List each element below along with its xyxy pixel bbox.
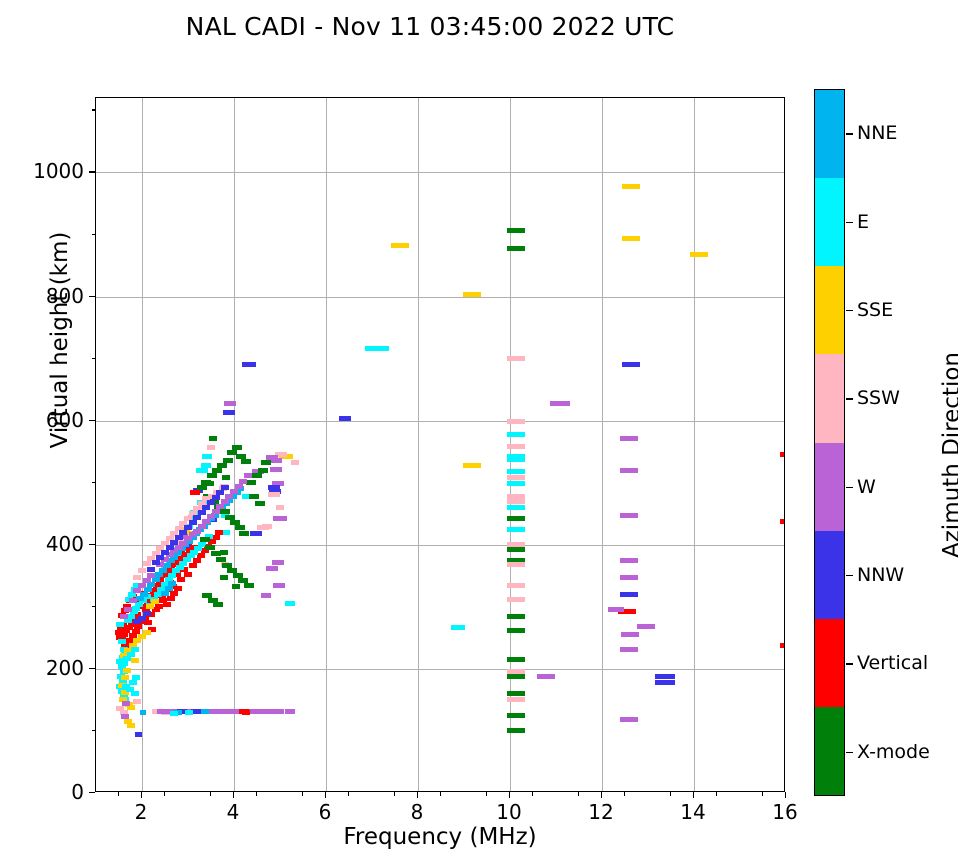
data-point [213,602,223,607]
x-tick-mark [141,792,142,798]
x-tick-label: 2 [135,800,148,824]
colorbar-tick [846,133,853,134]
data-point [168,581,176,586]
x-tick-label: 8 [411,800,424,824]
data-point [146,604,154,609]
x-minor-tick [348,792,349,796]
data-point [190,490,200,495]
gridline-horizontal [96,669,784,670]
data-point [780,519,785,524]
data-point [608,607,624,612]
gridline-horizontal [96,297,784,298]
data-point [507,246,525,251]
data-point [123,668,131,673]
data-point [507,475,525,480]
data-point [373,346,389,351]
x-minor-tick [210,792,211,796]
data-point [134,624,142,629]
x-minor-tick [486,792,487,796]
data-point [133,588,141,593]
data-point [255,501,265,506]
data-point [507,597,525,602]
figure-root: NAL CADI - Nov 11 03:45:00 2022 UTC 2468… [0,0,958,857]
data-point [620,436,638,441]
x-minor-tick [256,792,257,796]
data-point [620,468,638,473]
data-point [220,575,228,580]
x-minor-tick [118,792,119,796]
data-point [507,713,525,718]
data-point [175,535,183,540]
x-minor-tick [394,792,395,796]
x-tick-label: 14 [680,800,705,824]
data-point [463,463,473,468]
y-tick-label: 0 [71,780,84,804]
data-point [244,473,252,478]
data-point [120,661,128,666]
data-point [193,515,201,520]
colorbar-label-nne: NNE [857,122,897,144]
x-axis-label: Frequency (MHz) [95,824,785,850]
data-point [620,513,638,518]
data-point [270,458,282,463]
data-point [189,563,197,568]
data-point [202,519,210,524]
data-point [144,620,152,625]
data-point [620,717,638,722]
data-point [179,530,187,535]
data-point [170,591,178,596]
data-point [133,699,141,704]
data-point [131,658,139,663]
data-point [272,560,284,565]
data-point [285,709,295,714]
data-point [127,652,135,657]
gridline-vertical [142,98,143,791]
colorbar-label-nnw: NNW [857,564,904,586]
data-point [185,710,193,715]
colorbar-segment-vertical[interactable] [815,619,844,707]
data-point [463,292,481,297]
data-point [224,401,236,406]
data-point [507,674,525,679]
data-point [138,568,146,573]
data-point [220,509,230,514]
data-point [391,243,409,248]
data-point [235,525,245,530]
x-tick-mark [785,792,786,798]
data-point [270,709,284,714]
data-point [170,540,178,545]
x-minor-tick [532,792,533,796]
x-minor-tick [164,792,165,796]
x-tick-label: 10 [496,800,521,824]
data-point [126,687,134,692]
data-point [133,619,141,624]
data-point [273,583,285,588]
data-point [258,468,268,473]
data-point [132,675,140,680]
data-point [250,531,262,536]
data-point [216,490,224,495]
data-point [507,228,525,233]
data-point [507,457,525,462]
data-point [147,567,155,572]
data-point [131,647,139,652]
data-point [184,572,192,577]
data-point [222,475,230,480]
colorbar-segment-w[interactable] [815,443,844,531]
data-point [207,500,215,505]
data-point [223,410,235,415]
data-point [220,550,228,555]
x-tick-label: 16 [772,800,797,824]
data-point [211,551,221,556]
data-point [239,531,249,536]
data-point [655,680,675,685]
data-point [261,460,271,465]
data-point [163,602,171,607]
data-point [129,680,137,685]
colorbar-label-sse: SSE [857,299,893,321]
data-point [621,632,639,637]
data-point [242,362,256,367]
data-point [215,530,223,535]
data-point [507,547,525,552]
x-minor-tick [578,792,579,796]
data-point [189,520,197,525]
data-point [179,541,187,546]
data-point [184,525,192,530]
colorbar-segment-x-mode[interactable] [815,707,844,795]
gridline-vertical [326,98,327,791]
data-point [140,710,146,715]
data-point [165,586,173,591]
x-tick-mark [601,792,602,798]
data-point [212,509,220,514]
data-point [232,584,240,589]
colorbar[interactable] [814,89,845,796]
data-point [212,495,220,500]
x-minor-tick [302,792,303,796]
colorbar-label-w: W [857,476,876,498]
colorbar-tick [846,398,853,399]
data-point [167,596,175,601]
data-point [200,537,210,542]
data-point [620,575,638,580]
colorbar-tick [846,752,853,753]
y-minor-tick [92,606,96,607]
data-point [276,505,284,510]
data-point [193,529,201,534]
data-point [216,504,224,509]
x-tick-mark [509,792,510,798]
colorbar-label-x-mode: X-mode [857,741,930,763]
y-minor-tick [92,358,96,359]
data-point [507,444,525,449]
colorbar-segment-sse[interactable] [815,266,844,354]
data-point [124,607,132,612]
y-tick-mark [89,544,95,545]
x-tick-mark [693,792,694,798]
x-minor-tick [762,792,763,796]
data-point [507,697,525,702]
colorbar-label-vertical: Vertical [857,652,928,674]
gridline-vertical [694,98,695,791]
data-point [507,419,525,424]
y-tick-mark [89,668,95,669]
data-point [161,591,169,596]
x-minor-tick [440,792,441,796]
data-point [239,479,247,484]
data-point [230,489,238,494]
data-point [177,577,185,582]
x-tick-mark [325,792,326,798]
y-tick-mark [89,420,95,421]
data-point [507,657,525,662]
data-point [451,625,465,630]
data-point [201,480,211,485]
data-point [202,454,212,459]
data-point [127,705,135,710]
data-point [537,674,555,679]
y-minor-tick [92,234,96,235]
colorbar-tick [846,487,853,488]
data-point [209,436,217,441]
data-point [127,723,135,728]
y-tick-label: 400 [46,532,84,556]
data-point [507,356,525,361]
data-point [291,460,299,465]
colorbar-tick [846,222,853,223]
data-point [216,557,226,562]
x-tick-mark [233,792,234,798]
data-point [170,711,178,716]
data-point [207,473,217,478]
data-point [205,545,215,550]
data-point [223,458,233,463]
data-point [262,524,272,529]
gridline-horizontal [96,172,784,173]
data-point [198,510,206,515]
data-point [507,562,525,567]
data-point [201,709,209,714]
data-point [622,184,640,189]
data-point [143,561,151,566]
data-point [123,656,131,661]
colorbar-segment-ssw[interactable] [815,354,844,442]
data-point [143,630,151,635]
data-point [221,499,229,504]
data-point [221,485,229,490]
data-point [261,593,271,598]
data-point [120,614,128,619]
data-point [241,459,251,464]
data-point [507,516,525,521]
data-point [622,236,640,241]
data-point [115,630,123,635]
data-point [252,473,262,478]
data-point [507,628,525,633]
data-point [235,484,243,489]
y-minor-tick [92,482,96,483]
data-point [507,691,525,696]
data-point [655,674,675,679]
data-point [159,568,167,573]
data-point [122,701,130,706]
colorbar-label-ssw: SSW [857,387,900,409]
y-tick-label: 200 [46,656,84,680]
data-point [152,560,160,565]
colorbar-label-e: E [857,211,869,233]
x-tick-label: 6 [319,800,332,824]
data-point [507,614,525,619]
data-point [507,527,525,532]
data-point [507,469,525,474]
colorbar-title: Azimuth Direction [939,275,958,635]
data-point [507,728,525,733]
y-minor-tick [92,109,96,110]
y-axis-label: Virtual height (km) [47,160,73,520]
data-point [507,432,525,437]
x-minor-tick [670,792,671,796]
data-point [550,401,570,406]
data-point [268,492,280,497]
data-point [270,467,282,472]
data-point [198,524,206,529]
data-point [507,481,525,486]
colorbar-tick [846,575,853,576]
data-point [244,583,254,588]
gridline-horizontal [96,421,784,422]
data-point [207,445,215,450]
data-point [116,622,124,627]
y-minor-tick [92,730,96,731]
data-point [202,505,210,510]
colorbar-segment-nne[interactable] [815,90,844,178]
data-point [780,643,785,648]
data-point [507,583,525,588]
data-point [780,452,785,457]
colorbar-segment-nnw[interactable] [815,531,844,619]
x-tick-label: 12 [588,800,613,824]
plot-area[interactable] [95,97,785,792]
data-point [285,601,295,606]
data-point [620,647,638,652]
data-point [246,480,256,485]
data-point [212,468,222,473]
data-point [121,675,129,680]
data-point [118,639,126,644]
data-point [622,362,640,367]
data-point [620,592,638,597]
colorbar-segment-e[interactable] [815,178,844,266]
data-point [197,485,207,490]
data-point [365,346,375,351]
data-point [620,558,638,563]
x-minor-tick [624,792,625,796]
gridline-vertical [602,98,603,791]
x-tick-label: 4 [227,800,240,824]
data-point [151,599,159,604]
y-tick-mark [89,792,95,793]
data-point [133,575,141,580]
y-tick-mark [89,171,95,172]
data-point [136,596,144,601]
y-tick-mark [89,296,95,297]
data-point [168,573,176,578]
data-point [273,516,287,521]
data-point [249,494,259,499]
data-point [637,624,655,629]
data-point [690,252,708,257]
data-point [266,566,278,571]
page-title: NAL CADI - Nov 11 03:45:00 2022 UTC [0,12,860,41]
data-point [225,494,233,499]
data-point [207,514,215,519]
data-point [174,586,182,591]
colorbar-tick [846,663,853,664]
data-point [217,463,227,468]
data-point [129,598,137,603]
data-point [339,416,351,421]
data-point [232,445,242,450]
colorbar-tick [846,310,853,311]
data-point [507,499,525,504]
data-point [242,710,250,715]
gridline-vertical [418,98,419,791]
x-minor-tick [716,792,717,796]
data-point [193,558,201,563]
data-point [507,505,525,510]
x-tick-mark [417,792,418,798]
data-point [135,732,142,737]
